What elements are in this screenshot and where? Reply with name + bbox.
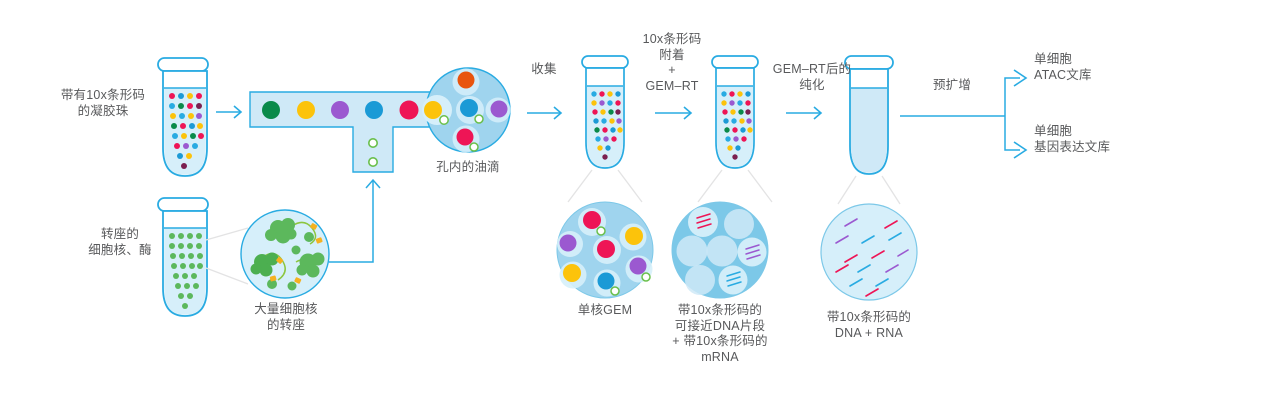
label-out-gex-library: 单细胞 基因表达文库 [1034,124,1164,155]
caption-barcoded-dna-mrna: 带10x条形码的 可接近DNA片段 + 带10x条形码的 mRNA [658,303,782,365]
gem-droplet [560,262,587,289]
label-gel-beads: 带有10x条形码 的凝胶珠 [48,88,158,119]
inset-barcoded-dna-rna [821,204,917,300]
gem-droplet [626,256,653,283]
label-oil-droplet-in-well: 孔内的油滴 [412,160,524,176]
gem-partition [707,236,738,267]
inset-barcoded-fragments [672,202,768,298]
arrow-right-collect [527,107,561,119]
label-barcode-attach-gemrt: 10x条形码 附着 + GEM–RT [622,32,722,94]
leader-lines-dnarna [838,176,900,204]
channel-nucleus [369,139,377,147]
gem-droplet [620,224,647,251]
arrow-right-purification [786,107,821,119]
label-post-gemrt-purification: GEM–RT后的 纯化 [757,62,867,93]
leader-lines-fragments [698,170,772,202]
gem-partition [724,209,754,239]
label-nuclei-enzyme: 转座的 细胞核、酶 [72,227,168,258]
leader-lines-gem [568,170,642,202]
channel-bead [297,101,315,119]
label-bulk-transposition: 大量细胞核 的转座 [228,302,344,333]
encapsulated-droplet [453,126,480,153]
arrow-right-icon-1 [216,106,241,118]
oil-droplet-well-circle [422,68,511,153]
label-preamplification: 预扩增 [912,78,992,94]
caption-single-nucleus-gem: 单核GEM [552,303,658,319]
channel-bead [400,101,419,120]
gem-droplet [593,236,621,264]
encapsulated-droplet [456,96,484,124]
gem-droplet [578,208,606,236]
inset-single-nucleus-gem [557,202,653,298]
gem-partition [719,266,748,295]
gel-bead-tube [158,58,208,176]
channel-bead [331,101,349,119]
gem-droplet [557,231,583,257]
workflow-diagram: 带有10x条形码 的凝胶珠 转座的 细胞核、酶 大量细胞核 的转座 孔内的油滴 … [0,0,1269,408]
encapsulated-droplet [453,69,480,96]
gem-partition [685,265,715,295]
arrow-right-gemrt [655,107,691,119]
gem-partition [677,236,708,267]
gem-partition [688,207,718,237]
label-collect: 收集 [519,62,569,78]
forming-droplet [422,95,452,125]
channel-bead [365,101,383,119]
channel-bead [262,101,280,119]
caption-barcoded-dna-rna: 带10x条形码的 DNA + RNA [806,310,932,341]
gem-droplet [594,270,621,297]
channel-nucleus [369,158,377,166]
arrow-up-icon [330,180,380,262]
label-out-atac-library: 单细胞 ATAC文库 [1034,52,1154,83]
inset-bulk-transposition [241,210,329,298]
encapsulated-droplet [486,98,511,123]
